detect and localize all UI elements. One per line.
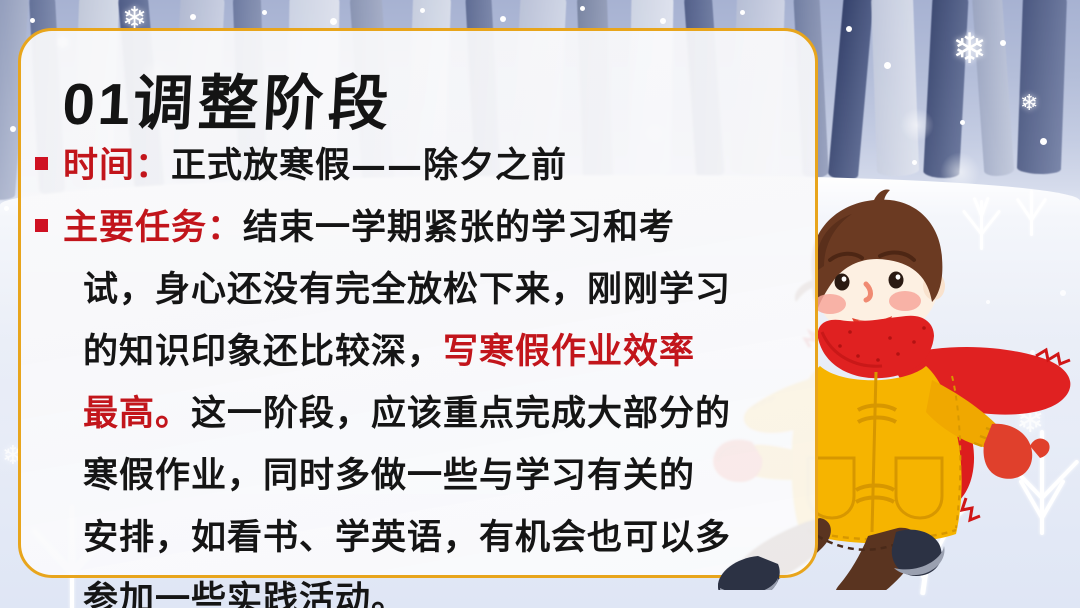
page-title: 01调整阶段 [61, 55, 396, 142]
snow-dot [10, 126, 16, 132]
snow-dot [580, 6, 585, 11]
title-number: 01 [61, 72, 135, 137]
body-segment: 试，身心还没有完全放松下来，刚刚学习 [83, 269, 731, 310]
body-line: 试，身心还没有完全放松下来，刚刚学习 [83, 259, 731, 321]
bokeh-light [900, 108, 934, 142]
snow-dot [500, 16, 506, 22]
list-item: 主要任务：结束一学期紧张的学习和考 [35, 197, 675, 259]
bullet-marker [35, 157, 48, 170]
body-segment: 参加一些实践活动。 [83, 579, 407, 608]
snow-dot [884, 62, 891, 69]
content-card: 01调整阶段 时间：正式放寒假——除夕之前 主要任务：结束一学期紧张的学习和考 … [18, 28, 818, 578]
snow-dot [1040, 138, 1047, 145]
list-item-text: 主要任务：结束一学期紧张的学习和考 [63, 197, 675, 259]
list-item-value: 正式放寒假——除夕之前 [171, 145, 567, 186]
body-line: 安排，如看书、学英语，有机会也可以多 [83, 507, 731, 569]
bullet-marker [35, 219, 48, 232]
list-item-text: 时间：正式放寒假——除夕之前 [63, 135, 567, 197]
snow-dot [740, 10, 745, 15]
snow-dot [190, 14, 196, 20]
body-segment: 这一阶段，应该重点完成大部分的 [191, 393, 731, 434]
slide-canvas: ❄ ❄ ❄ ❄ ❄ ❄ ❄ [0, 0, 1080, 608]
body-segment: 安排，如看书、学英语，有机会也可以多 [83, 517, 731, 558]
list-item-label: 主要任务： [63, 207, 243, 248]
list-item: 时间：正式放寒假——除夕之前 [35, 135, 567, 197]
snow-dot [330, 18, 337, 25]
body-line: 最高。这一阶段，应该重点完成大部分的 [83, 383, 731, 445]
snow-dot [1000, 40, 1006, 46]
body-segment: 寒假作业，同时多做一些与学习有关的 [83, 455, 695, 496]
snow-dot [262, 10, 267, 15]
body-line: 的知识印象还比较深，写寒假作业效率 [83, 321, 695, 383]
snowflake-icon: ❄ [1020, 92, 1038, 114]
body-line: 寒假作业，同时多做一些与学习有关的 [83, 445, 695, 507]
list-item-value: 结束一学期紧张的学习和考 [243, 207, 675, 248]
snow-dot [4, 206, 9, 211]
body-line: 参加一些实践活动。 [83, 569, 407, 608]
snow-dot [30, 18, 35, 23]
snow-dot [846, 26, 852, 32]
snow-dot [660, 18, 666, 24]
body-segment-highlight: 写寒假作业效率 [443, 331, 695, 372]
body-segment: 的知识印象还比较深， [83, 331, 443, 372]
snowflake-icon: ❄ [952, 28, 987, 70]
snow-dot [420, 8, 425, 13]
list-item-label: 时间： [63, 145, 171, 186]
tree-trunk [871, 0, 919, 177]
snow-dot [960, 120, 965, 125]
title-text: 调整阶段 [131, 69, 395, 139]
tree-trunk [1017, 0, 1067, 175]
body-segment-highlight: 最高。 [83, 393, 191, 434]
